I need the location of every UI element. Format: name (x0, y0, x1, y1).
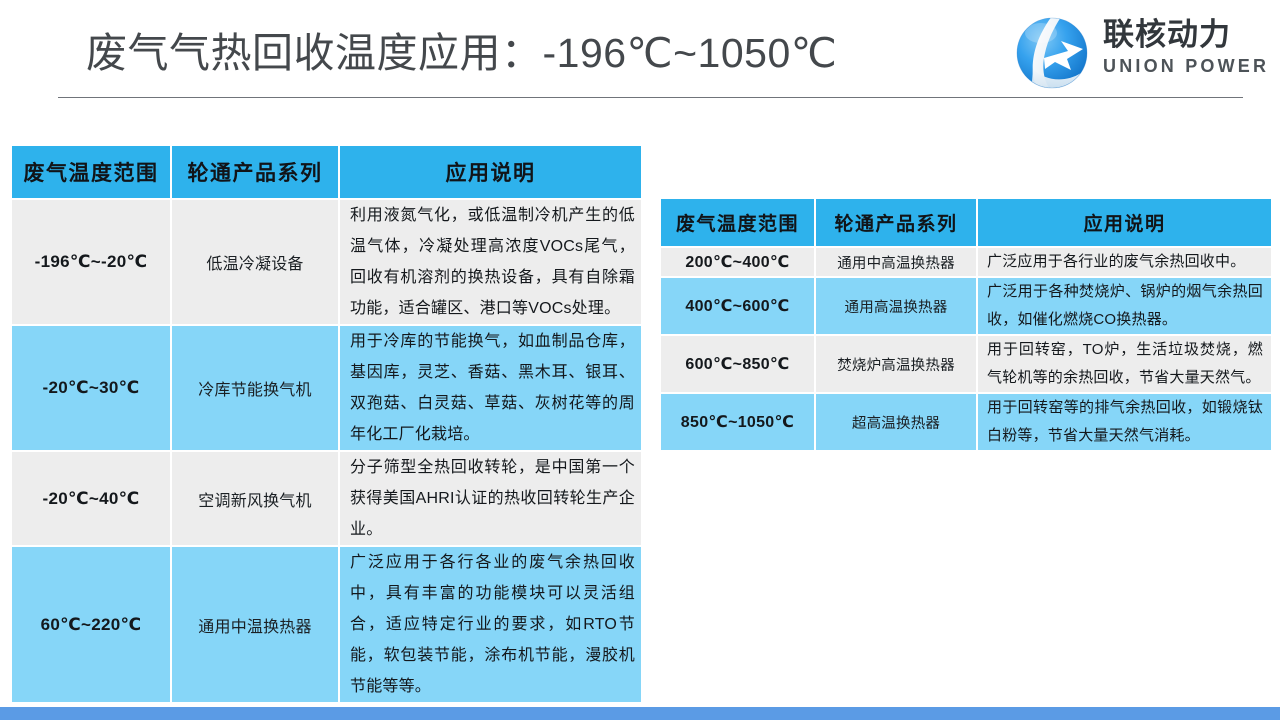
cell-description: 用于冷库的节能换气，如血制品仓库，基因库，灵芝、香菇、黑木耳、银耳、双孢菇、白灵… (340, 326, 641, 452)
page-title: 废气气热回收温度应用：-196℃~1050℃ (86, 24, 837, 82)
table-row: 60℃~220℃ 通用中温换热器 广泛应用于各行各业的废气余热回收中，具有丰富的… (12, 547, 641, 702)
column-header-range: 废气温度范围 (661, 199, 816, 248)
column-header-range: 废气温度范围 (12, 146, 172, 200)
cell-temperature-range: 850℃~1050℃ (661, 394, 816, 450)
cell-product-series: 焚烧炉高温换热器 (816, 336, 978, 394)
logo-name-en: UNION POWER (1103, 55, 1263, 77)
cell-temperature-range: -20℃~30℃ (12, 326, 172, 452)
cell-description: 广泛应用于各行业的废气余热回收中。 (978, 248, 1271, 278)
title-divider (58, 97, 1243, 98)
cell-temperature-range: 60℃~220℃ (12, 547, 172, 702)
union-power-sphere-logo (1011, 13, 1093, 95)
logo-wordmark: 联核动力 UNION POWER (1103, 17, 1263, 77)
cell-temperature-range: -196℃~-20℃ (12, 200, 172, 326)
cell-description: 用于回转窑，TO炉，生活垃圾焚烧，燃气轮机等的余热回收，节省大量天然气。 (978, 336, 1271, 394)
cell-description: 广泛用于各种焚烧炉、锅炉的烟气余热回收，如催化燃烧CO换热器。 (978, 278, 1271, 336)
table-row: -20℃~40℃ 空调新风换气机 分子筛型全热回收转轮，是中国第一个获得美国AH… (12, 452, 641, 547)
table-row: -196℃~-20℃ 低温冷凝设备 利用液氮气化，或低温制冷机产生的低温气体，冷… (12, 200, 641, 326)
company-logo: 联核动力 UNION POWER (1011, 13, 1263, 91)
slide-canvas: 废气气热回收温度应用：-196℃~1050℃ (0, 0, 1280, 720)
cell-description: 利用液氮气化，或低温制冷机产生的低温气体，冷凝处理高浓度VOCs尾气，回收有机溶… (340, 200, 641, 326)
column-header-desc: 应用说明 (340, 146, 641, 200)
cell-product-series: 通用中高温换热器 (816, 248, 978, 278)
logo-name-cn: 联核动力 (1103, 17, 1263, 53)
cell-description: 分子筛型全热回收转轮，是中国第一个获得美国AHRI认证的热收回转轮生产企业。 (340, 452, 641, 547)
column-header-series: 轮通产品系列 (816, 199, 978, 248)
cell-temperature-range: 200℃~400℃ (661, 248, 816, 278)
table-row: 200℃~400℃ 通用中高温换热器 广泛应用于各行业的废气余热回收中。 (661, 248, 1271, 278)
cell-description: 用于回转窑等的排气余热回收，如锻烧钛白粉等，节省大量天然气消耗。 (978, 394, 1271, 450)
table-row: 850℃~1050℃ 超高温换热器 用于回转窑等的排气余热回收，如锻烧钛白粉等，… (661, 394, 1271, 450)
table-header-row: 废气温度范围 轮通产品系列 应用说明 (12, 146, 641, 200)
table-row: 400℃~600℃ 通用高温换热器 广泛用于各种焚烧炉、锅炉的烟气余热回收，如催… (661, 278, 1271, 336)
cell-product-series: 空调新风换气机 (172, 452, 340, 547)
table-header-row: 废气温度范围 轮通产品系列 应用说明 (661, 199, 1271, 248)
table-row: -20℃~30℃ 冷库节能换气机 用于冷库的节能换气，如血制品仓库，基因库，灵芝… (12, 326, 641, 452)
cell-description: 广泛应用于各行各业的废气余热回收中，具有丰富的功能模块可以灵活组合，适应特定行业… (340, 547, 641, 702)
column-header-series: 轮通产品系列 (172, 146, 340, 200)
slide-header: 废气气热回收温度应用：-196℃~1050℃ (0, 0, 1280, 104)
column-header-desc: 应用说明 (978, 199, 1271, 248)
cell-temperature-range: 400℃~600℃ (661, 278, 816, 336)
cell-product-series: 超高温换热器 (816, 394, 978, 450)
cell-temperature-range: -20℃~40℃ (12, 452, 172, 547)
table-row: 600℃~850℃ 焚烧炉高温换热器 用于回转窑，TO炉，生活垃圾焚烧，燃气轮机… (661, 336, 1271, 394)
footer-accent-bar (0, 707, 1280, 720)
cell-product-series: 通用高温换热器 (816, 278, 978, 336)
cell-product-series: 通用中温换热器 (172, 547, 340, 702)
low-temperature-table: 废气温度范围 轮通产品系列 应用说明 -196℃~-20℃ 低温冷凝设备 利用液… (12, 146, 641, 702)
cell-product-series: 低温冷凝设备 (172, 200, 340, 326)
cell-product-series: 冷库节能换气机 (172, 326, 340, 452)
high-temperature-table: 废气温度范围 轮通产品系列 应用说明 200℃~400℃ 通用中高温换热器 广泛… (661, 199, 1271, 450)
cell-temperature-range: 600℃~850℃ (661, 336, 816, 394)
